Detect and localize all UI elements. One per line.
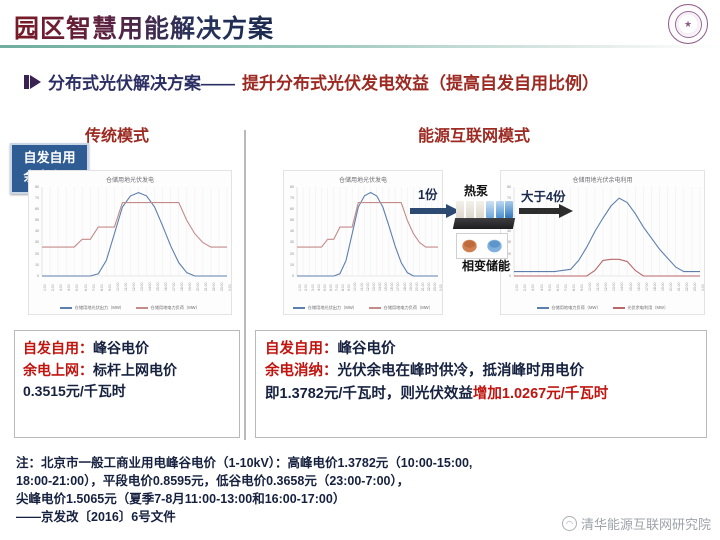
chart-x-tick: 23:00 — [220, 283, 224, 292]
header-divider — [0, 45, 720, 48]
result-right-text: 增加1.0267元/千瓦时 — [473, 386, 608, 402]
chart-x-tick: 21:00 — [677, 283, 681, 292]
chart-x-tick: 3:00 — [311, 284, 315, 291]
chart-legend-swatch — [293, 307, 305, 308]
chart-x-tick: 11:00 — [360, 283, 364, 291]
chart-x-tick: 7:00 — [564, 284, 568, 291]
section-heading-secondary: 提升分布式光伏发电效益（提高自发自用比例） — [242, 69, 599, 94]
chart-y-tick: 80 — [501, 185, 511, 189]
chart-series-line — [42, 193, 227, 276]
chart-y-tick: 80 — [284, 185, 294, 189]
chart-y-tick: 20 — [284, 252, 294, 256]
chart-x-tick: 5:00 — [75, 284, 79, 291]
chart-x-tick: 14:00 — [620, 283, 624, 292]
chart-x-tick: 6:00 — [84, 284, 88, 291]
result-box-traditional: 自发自用：峰谷电价余电上网：标杆上网电价0.3515元/千瓦时 — [14, 330, 240, 438]
chart-y-tick: 70 — [284, 196, 294, 200]
chart-x-tick: 10:00 — [588, 283, 592, 292]
chart-y-tick: 50 — [29, 218, 39, 222]
chart-y-tick: 70 — [29, 196, 39, 200]
traditional-mode-title: 传统模式 — [85, 122, 149, 146]
chart-x-tick: 23:00 — [693, 283, 697, 292]
watermark: ◠ 清华能源互联网研究院 — [562, 514, 711, 533]
chart-x-axis: 1:002:003:004:005:006:007:008:009:0010:0… — [284, 274, 442, 294]
arrow-1-label: 1份 — [418, 184, 437, 203]
chart-y-tick: 20 — [29, 252, 39, 256]
chart-x-tick: 17:00 — [172, 283, 176, 292]
chart-legend-label: 仓储用地光伏出力（MW） — [308, 305, 357, 310]
chart-x-tick: 14:00 — [148, 283, 152, 292]
result-right-line-3: 即1.3782元/千瓦时，则光伏效益增加1.0267元/千瓦时 — [265, 383, 697, 405]
chart-legend-item: 仓储用地光伏出力（MW） — [293, 305, 357, 311]
page-title: 园区智慧用能解决方案 — [14, 9, 274, 45]
result-left-text: 余电上网： — [23, 362, 93, 378]
chart-legend-label: 光伏余电利用（MW） — [627, 305, 668, 310]
chart-x-tick: 0:00 — [439, 284, 443, 291]
heat-pump-icon — [453, 199, 515, 233]
chart-x-tick: 15:00 — [384, 283, 388, 292]
chart-x-tick: 3:00 — [531, 284, 535, 291]
chart-x-axis: 1:002:003:004:005:006:007:008:009:0010:0… — [29, 274, 231, 294]
callout-line-1: 自发自用 — [17, 149, 82, 168]
chart-legend-label: 仓储用地电力负荷（MW） — [384, 305, 433, 310]
chart-legend-label: 仓储用地光伏出力（MW） — [75, 305, 124, 310]
chart-x-tick: 23:00 — [433, 283, 437, 292]
chart-x-tick: 1:00 — [43, 284, 47, 291]
chart-x-tick: 16:00 — [390, 283, 394, 292]
chart-legend-item: 光伏余电利用（MW） — [613, 305, 668, 311]
chart-x-tick: 20:00 — [669, 283, 673, 292]
chart-x-tick: 1:00 — [515, 284, 519, 291]
chart-x-tick: 21:00 — [204, 283, 208, 292]
chart-x-tick: 5:00 — [548, 284, 552, 291]
chart-x-tick: 16:00 — [164, 283, 168, 292]
chart-x-tick: 15:00 — [629, 283, 633, 292]
tsinghua-seal-icon: ★ — [668, 4, 708, 44]
chart-x-tick: 18:00 — [653, 283, 657, 292]
chart-y-tick: 40 — [29, 229, 39, 233]
watermark-text: 清华能源互联网研究院 — [581, 514, 711, 533]
slide-root: 园区智慧用能解决方案 ★ 分布式光伏解决方案—— 提升分布式光伏发电效益（提高自… — [0, 0, 720, 540]
chart-x-tick: 19:00 — [661, 283, 665, 292]
footnote-line-3: 尖峰电价1.5065元（夏季7-8月11:00-13:00和16:00-17:0… — [16, 491, 706, 509]
chart-x-tick: 12:00 — [366, 283, 370, 292]
result-box-energy-internet: 自发自用：峰谷电价余电消纳：光伏余电在峰时供冷，抵消峰时用电价即1.3782元/… — [255, 330, 707, 438]
chart-legend: 仓储用地光伏出力（MW）仓储用地电力负荷（MW） — [284, 305, 442, 311]
chart-legend-swatch — [613, 307, 625, 308]
chart-x-tick: 22:00 — [427, 283, 431, 292]
chart-x-tick: 0:00 — [228, 284, 232, 291]
chart-x-tick: 4:00 — [317, 284, 321, 291]
chart-x-tick: 20:00 — [196, 283, 200, 292]
chart-x-tick: 19:00 — [409, 283, 413, 292]
chart-x-tick: 18:00 — [180, 283, 184, 292]
chart-x-tick: 2:00 — [51, 284, 55, 291]
chart-x-tick: 5:00 — [323, 284, 327, 291]
footnote-line-1: 注：北京市一般工商业用电峰谷电价（1-10kV）：高峰电价1.3782元（10:… — [16, 455, 706, 473]
chart-x-tick: 16:00 — [637, 283, 641, 292]
flag-bullet-icon — [24, 75, 41, 89]
chart-x-tick: 9:00 — [108, 284, 112, 291]
chart-x-tick: 8:00 — [572, 284, 576, 291]
chart-x-tick: 4:00 — [540, 284, 544, 291]
result-left-text: 标杆上网电价 — [93, 362, 177, 378]
wechat-logo-icon: ◠ — [562, 516, 577, 531]
chart-x-tick: 13:00 — [372, 283, 376, 292]
chart-x-tick: 4:00 — [67, 284, 71, 291]
chart-legend-item: 仓储用地光伏出力（MW） — [60, 305, 124, 311]
result-right-line-2: 余电消纳：光伏余电在峰时供冷，抵消峰时用电价 — [265, 360, 697, 382]
chart-x-tick: 11:00 — [596, 283, 600, 291]
chart-x-tick: 3:00 — [59, 284, 63, 291]
chart-x-tick: 6:00 — [329, 284, 333, 291]
chart-y-tick: 10 — [29, 263, 39, 267]
chart-x-tick: 12:00 — [604, 283, 608, 292]
result-right-text: 余电消纳： — [265, 363, 338, 379]
chart-x-tick: 21:00 — [421, 283, 425, 292]
result-right-text: 即1.3782元/千瓦时，则光伏效益 — [265, 386, 473, 402]
chart-x-tick: 22:00 — [212, 283, 216, 292]
chart-x-tick: 20:00 — [415, 283, 419, 292]
chart-legend-label: 仓储用地电力负荷（MW） — [151, 305, 200, 310]
result-left-line-3: 0.3515元/千瓦时 — [23, 381, 231, 403]
chart-x-tick: 2:00 — [523, 284, 527, 291]
chart-y-tick: 50 — [284, 218, 294, 222]
chart-legend-swatch — [136, 307, 148, 308]
section-heading-primary: 分布式光伏解决方案—— — [48, 69, 235, 94]
chart-y-tick: 40 — [284, 229, 294, 233]
result-right-text: 光伏余电在峰时供冷，抵消峰时用电价 — [338, 363, 585, 379]
chart-x-tick: 8:00 — [341, 284, 345, 291]
energy-internet-mode-title: 能源互联网模式 — [418, 122, 530, 146]
chart-legend-swatch — [60, 307, 72, 308]
chart-x-tick: 1:00 — [298, 284, 302, 291]
chart-x-tick: 11:00 — [124, 283, 128, 291]
chart-x-tick: 10:00 — [116, 283, 120, 292]
chart-y-tick: 30 — [29, 240, 39, 244]
chart-x-tick: 12:00 — [132, 283, 136, 292]
chart-x-axis: 1:002:003:004:005:006:007:008:009:0010:0… — [501, 274, 704, 294]
result-left-line-2: 余电上网：标杆上网电价 — [23, 360, 231, 382]
chart-legend-swatch — [369, 307, 381, 308]
chart-legend-label: 仓储用地电力负荷（MW） — [551, 305, 600, 310]
chart-x-tick: 0:00 — [701, 284, 705, 291]
footnote-line-2: 18:00-21:00），平段电价0.8595元，低谷电价0.3658元（23:… — [16, 473, 706, 491]
result-left-text: 峰谷电价 — [93, 340, 149, 356]
pcm-label: 相变储能 — [462, 257, 510, 274]
chart-y-tick: 10 — [284, 263, 294, 267]
result-left-text: 0.3515元/千瓦时 — [23, 383, 126, 399]
chart-x-tick: 13:00 — [612, 283, 616, 292]
chart-legend: 仓储用地电力负荷（MW）光伏余电利用（MW） — [501, 305, 704, 311]
chart-legend-item: 仓储用地电力负荷（MW） — [369, 305, 433, 311]
chart-y-tick: 60 — [284, 207, 294, 211]
result-left-line-1: 自发自用：峰谷电价 — [23, 338, 231, 360]
heat-pump-label: 热泵 — [464, 182, 488, 199]
chart-y-tick: 60 — [29, 207, 39, 211]
chart-x-tick: 9:00 — [580, 284, 584, 291]
chart-y-tick: 30 — [284, 240, 294, 244]
section-heading: 分布式光伏解决方案—— 提升分布式光伏发电效益（提高自发自用比例） — [24, 69, 599, 94]
chart-x-tick: 19:00 — [188, 283, 192, 292]
chart-legend: 仓储用地光伏出力（MW）仓储用地电力负荷（MW） — [29, 305, 231, 311]
arrow-2-icon — [519, 203, 573, 219]
chart-x-tick: 7:00 — [335, 284, 339, 291]
result-right-text: 峰谷电价 — [338, 341, 396, 357]
chart-x-tick: 10:00 — [353, 283, 357, 292]
panel-divider — [244, 130, 246, 440]
phase-change-storage-icon — [456, 233, 508, 259]
chart-x-tick: 9:00 — [347, 284, 351, 291]
result-right-text: 自发自用： — [265, 341, 338, 357]
chart-x-tick: 6:00 — [556, 284, 560, 291]
chart-x-tick: 14:00 — [378, 283, 382, 292]
chart-y-tick: 80 — [29, 185, 39, 189]
chart-x-tick: 8:00 — [100, 284, 104, 291]
chart-legend-swatch — [537, 307, 549, 308]
chart-x-tick: 17:00 — [645, 283, 649, 292]
chart-x-tick: 2:00 — [304, 284, 308, 291]
chart-x-tick: 17:00 — [396, 283, 400, 292]
chart-x-tick: 18:00 — [403, 283, 407, 292]
chart-series-line — [42, 203, 227, 248]
chart-legend-item: 仓储用地电力负荷（MW） — [136, 305, 200, 311]
chart-traditional-pv: 仓储用地光伏发电010203040506070801:002:003:004:0… — [28, 170, 232, 315]
chart-legend-item: 仓储用地电力负荷（MW） — [537, 305, 601, 311]
result-right-line-1: 自发自用：峰谷电价 — [265, 338, 697, 360]
chart-x-tick: 22:00 — [685, 283, 689, 292]
result-left-text: 自发自用： — [23, 340, 93, 356]
chart-x-tick: 7:00 — [92, 284, 96, 291]
chart-x-tick: 13:00 — [140, 283, 144, 292]
chart-x-tick: 15:00 — [156, 283, 160, 292]
